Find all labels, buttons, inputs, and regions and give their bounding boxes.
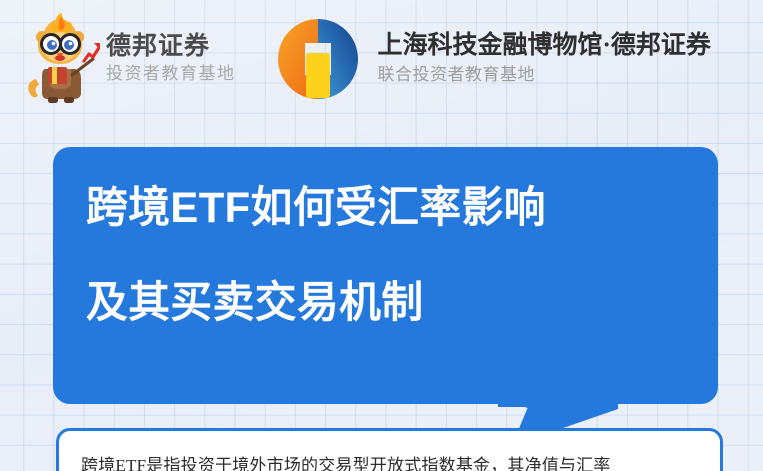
brand-left-group: 德邦证券 投资者教育基地 xyxy=(22,13,236,105)
info-card: 跨境ETF是指投资于境外市场的交易型开放式指数基金，其净值与汇率 xyxy=(56,428,723,471)
title-line-1: 跨境ETF如何受汇率影响 xyxy=(86,187,699,230)
brand-subtitle-debon: 投资者教育基地 xyxy=(106,63,236,85)
info-card-text: 跨境ETF是指投资于境外市场的交易型开放式指数基金，其净值与汇率 xyxy=(81,453,698,471)
title-speech-bubble: 跨境ETF如何受汇率影响 及其买卖交易机制 xyxy=(53,147,718,404)
museum-name: 上海科技金融博物馆·德邦证券 xyxy=(378,32,711,61)
lion-mascot-icon xyxy=(22,13,100,105)
brand-right-group: 上海科技金融博物馆·德邦证券 联合投资者教育基地 xyxy=(272,13,711,105)
museum-circle-logo-icon xyxy=(272,13,364,105)
poster-page: 德邦证券 投资者教育基地 xyxy=(0,0,763,471)
header-bar: 德邦证券 投资者教育基地 xyxy=(0,0,763,118)
brand-right-text-group: 上海科技金融博物馆·德邦证券 联合投资者教育基地 xyxy=(378,32,711,87)
brand-name-debon: 德邦证券 xyxy=(106,32,236,60)
title-line-2: 及其买卖交易机制 xyxy=(86,282,699,325)
museum-subtitle: 联合投资者教育基地 xyxy=(378,64,711,86)
brand-left-text-group: 德邦证券 投资者教育基地 xyxy=(106,32,236,85)
